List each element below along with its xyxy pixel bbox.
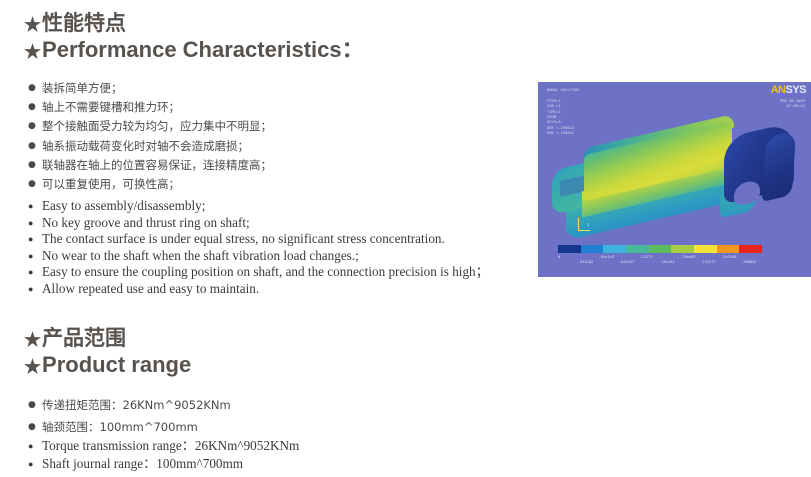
list-item: ●轴系振动载荷变化时对轴不会造成磨损； bbox=[28, 137, 272, 156]
legend-label-lower-4: .290642 bbox=[741, 260, 756, 265]
bullet-icon: ● bbox=[28, 215, 33, 232]
legend-band-7 bbox=[717, 245, 740, 253]
bullet-icon: ● bbox=[28, 175, 36, 194]
product-range-heading-en-text: Product range bbox=[42, 352, 191, 377]
list-item: ●Allow repeated use and easy to maintain… bbox=[28, 281, 489, 298]
list-item-label: Easy to assembly/disassembly; bbox=[42, 198, 205, 213]
axis-triad-icon: Z bbox=[574, 218, 592, 232]
bullet-icon: ● bbox=[28, 264, 33, 281]
list-item-label: 轴上不需要键槽和推力环； bbox=[42, 100, 180, 114]
list-item: ●Torque transmission range：26KNm^9052KNm bbox=[28, 437, 299, 455]
legend-band-6 bbox=[694, 245, 717, 253]
legend-label-lower-0: .013182 bbox=[578, 260, 593, 265]
bullet-icon: ● bbox=[28, 231, 33, 248]
bullet-icon: ● bbox=[28, 248, 33, 265]
list-item-label: 传递扭矩范围：26KNm^9052KNm bbox=[42, 398, 231, 412]
bullet-icon: ● bbox=[28, 156, 36, 175]
bullet-icon: ● bbox=[28, 416, 36, 438]
product-range-list-en: ●Torque transmission range：26KNm^9052KNm… bbox=[28, 437, 299, 473]
list-item-label: Easy to ensure the coupling position on … bbox=[42, 264, 489, 279]
legend-label-lower-2: .16xx52 bbox=[660, 260, 675, 265]
fea-annotation-text: NODAL SOLUTION STEP=1 SUB =1 TIME=1 USUM… bbox=[547, 88, 579, 137]
list-item: ●整个接触面受力较为均匀，应力集中不明显； bbox=[28, 117, 272, 136]
list-item-label: Torque transmission range：26KNm^9052KNm bbox=[42, 438, 299, 453]
star-icon: ★ bbox=[24, 358, 41, 377]
performance-list-cn: ●装拆简单方便； ●轴上不需要键槽和推力环； ●整个接触面受力较为均匀，应力集中… bbox=[28, 79, 272, 194]
list-item-label: 联轴器在轴上的位置容易保证，连接精度高； bbox=[42, 158, 272, 172]
performance-heading-cn-text: 性能特点 bbox=[42, 12, 126, 35]
list-item: ●装拆简单方便； bbox=[28, 79, 272, 98]
fea-canvas: Z NODAL SOLUTION STEP=1 SUB =1 TIME=1 US… bbox=[538, 82, 811, 277]
legend-band-8 bbox=[739, 245, 762, 253]
product-range-heading-block: ★产品范围 ★Product range bbox=[24, 327, 191, 378]
legend-label-upper-0: 0 bbox=[558, 255, 560, 260]
bullet-icon: ● bbox=[28, 437, 33, 455]
star-icon: ★ bbox=[24, 43, 41, 62]
list-item-label: 整个接触面受力较为均匀，应力集中不明显； bbox=[42, 119, 272, 133]
legend-label-upper-4: .2x3x38 bbox=[721, 255, 736, 260]
legend-label-lower-1: .044547 bbox=[619, 260, 634, 265]
legend-color-bar bbox=[558, 245, 762, 253]
legend-tick-labels: 0.0xx1x3.13173.18xx85.2x3x38.013182.0445… bbox=[558, 255, 762, 269]
bullet-icon: ● bbox=[28, 98, 36, 117]
list-item-label: No wear to the shaft when the shaft vibr… bbox=[42, 248, 359, 263]
list-item-label: The contact surface is under equal stres… bbox=[42, 231, 445, 246]
legend-band-5 bbox=[671, 245, 694, 253]
list-item: ●可以重复使用，可换性高； bbox=[28, 175, 272, 194]
fea-date-stamp: FEB 18 2009 07:08:44 bbox=[780, 98, 805, 109]
list-item-label: Allow repeated use and easy to maintain. bbox=[42, 281, 259, 296]
product-range-heading-cn: ★产品范围 bbox=[24, 327, 191, 352]
list-item: ●No key groove and thrust ring on shaft; bbox=[28, 215, 489, 232]
performance-heading-en-text: Performance Characteristics： bbox=[42, 37, 364, 62]
bullet-icon: ● bbox=[28, 137, 36, 156]
performance-heading-en: ★Performance Characteristics： bbox=[24, 37, 364, 63]
performance-heading-block: ★性能特点 ★Performance Characteristics： bbox=[24, 12, 364, 63]
list-item: ●Easy to ensure the coupling position on… bbox=[28, 264, 489, 281]
list-item: ●Easy to assembly/disassembly; bbox=[28, 198, 489, 215]
ansys-logo-icon: ANSYS bbox=[771, 85, 806, 96]
list-item: ●Shaft journal range：100mm^700mm bbox=[28, 455, 299, 473]
list-item: ●轴颈范围：100mm^700mm bbox=[28, 416, 231, 438]
ansys-fea-image: Z NODAL SOLUTION STEP=1 SUB =1 TIME=1 US… bbox=[538, 82, 811, 277]
star-icon: ★ bbox=[24, 16, 41, 35]
list-item-label: 可以重复使用，可换性高； bbox=[42, 177, 180, 191]
star-icon: ★ bbox=[24, 331, 41, 350]
bullet-icon: ● bbox=[28, 198, 33, 215]
legend-band-1 bbox=[581, 245, 604, 253]
list-item-label: 轴颈范围：100mm^700mm bbox=[42, 420, 198, 434]
list-item: ●轴上不需要键槽和推力环； bbox=[28, 98, 272, 117]
bullet-icon: ● bbox=[28, 281, 33, 298]
list-item: ●The contact surface is under equal stre… bbox=[28, 231, 489, 248]
axis-label: Z bbox=[587, 223, 589, 227]
legend-band-2 bbox=[603, 245, 626, 253]
legend-label-upper-2: .13173 bbox=[640, 255, 653, 260]
bullet-icon: ● bbox=[28, 79, 36, 98]
fea-color-legend: 0.0xx1x3.13173.18xx85.2x3x38.013182.0445… bbox=[558, 245, 762, 269]
bullet-icon: ● bbox=[28, 455, 33, 473]
product-range-heading-en: ★Product range bbox=[24, 352, 191, 378]
legend-band-0 bbox=[558, 245, 581, 253]
legend-label-upper-3: .18xx85 bbox=[680, 255, 695, 260]
legend-label-upper-1: .0xx1x3 bbox=[599, 255, 614, 260]
bullet-icon: ● bbox=[28, 394, 36, 416]
performance-list-en: ●Easy to assembly/disassembly; ●No key g… bbox=[28, 198, 489, 298]
list-item-label: 轴系振动载荷变化时对轴不会造成磨损； bbox=[42, 139, 249, 153]
bullet-icon: ● bbox=[28, 117, 36, 136]
list-item-label: No key groove and thrust ring on shaft; bbox=[42, 215, 250, 230]
product-range-list-cn: ●传递扭矩范围：26KNm^9052KNm ●轴颈范围：100mm^700mm bbox=[28, 394, 231, 438]
ansys-logo-part2: SYS bbox=[785, 84, 806, 96]
list-item-label: 装拆简单方便； bbox=[42, 81, 123, 95]
list-item-label: Shaft journal range：100mm^700mm bbox=[42, 456, 243, 471]
ansys-logo-part1: AN bbox=[771, 84, 786, 96]
list-item: ●传递扭矩范围：26KNm^9052KNm bbox=[28, 394, 231, 416]
list-item: ●No wear to the shaft when the shaft vib… bbox=[28, 248, 489, 265]
performance-heading-cn: ★性能特点 bbox=[24, 12, 364, 37]
legend-band-3 bbox=[626, 245, 649, 253]
list-item: ●联轴器在轴上的位置容易保证，连接精度高； bbox=[28, 156, 272, 175]
legend-label-lower-3: .232277 bbox=[700, 260, 715, 265]
legend-band-4 bbox=[649, 245, 672, 253]
product-range-heading-cn-text: 产品范围 bbox=[42, 327, 126, 350]
